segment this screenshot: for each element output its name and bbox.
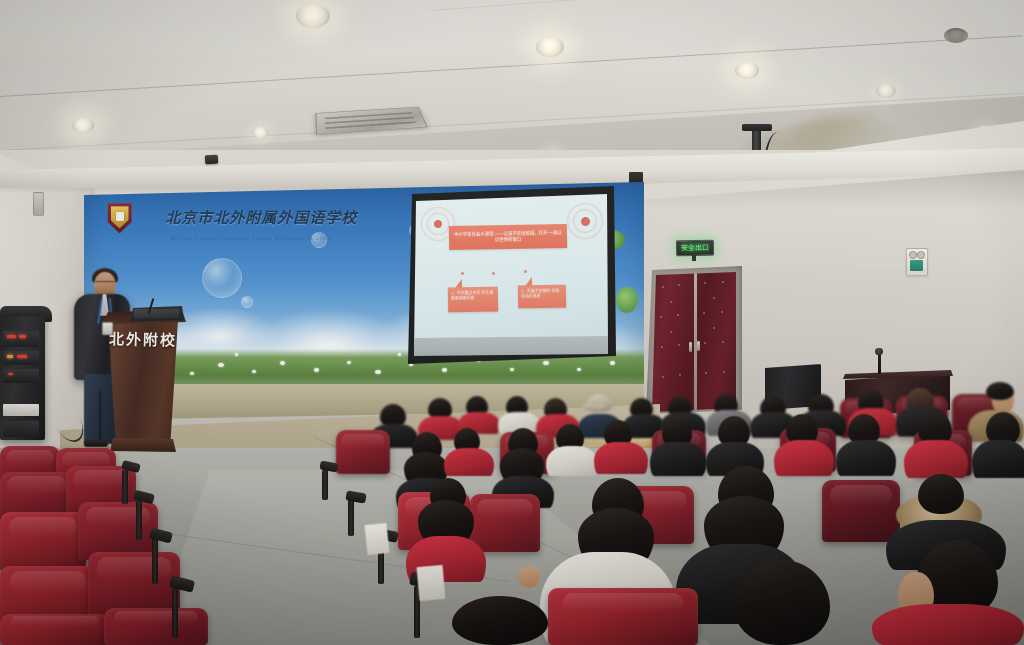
seat[interactable]: [548, 588, 698, 645]
seat-leg: [122, 470, 128, 504]
speaker-badge: [102, 322, 113, 335]
slide-callout-2: 2、开展不定期的 实践活动反馈表: [518, 285, 566, 309]
ceiling-downlight: [876, 84, 896, 98]
seat-empty[interactable]: [0, 614, 110, 645]
projector-ceiling-plate: [742, 124, 772, 131]
handout-paper[interactable]: [364, 523, 389, 555]
wall-camera-icon: [205, 155, 218, 165]
audience-shoulders: [904, 440, 968, 478]
ceiling-downlight: [296, 4, 330, 28]
slide-callout-1: 1、中学重点中学 学生满意度调查问卷: [448, 287, 498, 313]
audience-head: [986, 382, 1014, 400]
speaker-shoe: [84, 440, 108, 447]
globe-graphic: [616, 287, 638, 313]
microphone-stand: [878, 352, 881, 374]
seat-leg: [348, 500, 354, 536]
microphone-icon: [875, 348, 883, 355]
seat[interactable]: [470, 494, 540, 552]
audio-rack[interactable]: [0, 316, 45, 440]
ceiling-downlight: [536, 37, 564, 57]
slide-callout-1-text: 1、中学重点中学 学生满意度调查问卷: [451, 290, 495, 302]
ceiling-downlight: [735, 62, 759, 79]
auditorium-photo: 北京市北外附属外国语学校 Beijing Foreign Language Sc…: [0, 0, 1024, 645]
podium-base: [110, 438, 176, 452]
slide-ornament-left-core: [434, 220, 442, 228]
glasses-icon: [95, 281, 115, 287]
wall-plate: [33, 192, 44, 216]
speaker-legs: [84, 374, 116, 444]
slide-node-dot: [492, 272, 495, 275]
bubble-graphic: [202, 258, 242, 298]
bubble-graphic: [241, 296, 253, 308]
seat-leg: [152, 538, 158, 584]
projection-screen[interactable]: 中小学生社会大课堂 ——让孩子走出校园，打开 一扇认识世界的窗口 1、中学重点中…: [414, 194, 608, 350]
seat-leg: [136, 500, 142, 540]
ceiling-downlight-off: [944, 28, 968, 43]
ceiling-downlight: [72, 118, 94, 133]
padded-double-door[interactable]: [652, 272, 736, 412]
exit-sign-stem: [692, 254, 696, 261]
slide-node-dot: [524, 270, 527, 273]
podium-name-text: 北外附校: [109, 333, 177, 349]
audience-shoulders: [546, 446, 598, 476]
seat[interactable]: [336, 430, 390, 474]
school-name-en: Beijing Foreign Language School Affiliat…: [171, 237, 333, 242]
audience-head: [734, 560, 830, 645]
seat-empty[interactable]: [104, 608, 208, 645]
seat-leg: [322, 470, 328, 500]
handout-paper[interactable]: [417, 565, 446, 601]
seat[interactable]: [822, 480, 900, 542]
audience-shoulders: [594, 442, 648, 474]
wall-safety-device: [906, 248, 928, 276]
slide-ornament-right-core: [581, 217, 590, 226]
ceiling-downlight: [252, 127, 269, 139]
slide-title-text: 中小学生社会大课堂 ——让孩子走出校园，打开 一扇认识世界的窗口: [452, 230, 564, 244]
school-crest-icon: [108, 203, 132, 233]
seat-empty[interactable]: [0, 512, 86, 572]
projection-screen-bottom-bar: [414, 336, 608, 356]
audience-hand: [518, 566, 540, 588]
audience-shoulders: [650, 442, 706, 476]
exit-sign-text: 安全出口: [681, 244, 709, 251]
slide-title-band: 中小学生社会大课堂 ——让孩子走出校园，打开 一扇认识世界的窗口: [449, 224, 567, 250]
audience-head: [918, 474, 964, 514]
audience-shoulders: [836, 440, 896, 476]
audience-shoulders: [872, 604, 1024, 645]
audience-shoulders: [972, 440, 1024, 478]
audience-shoulders: [444, 448, 494, 476]
seat-leg: [172, 588, 178, 638]
audience-head: [452, 596, 548, 645]
school-name-zh: 北京市北外附属外国语学校: [165, 207, 357, 228]
audience-shoulders: [774, 440, 834, 476]
laptop[interactable]: [130, 306, 184, 322]
podium-name-plate: 北外附校: [106, 329, 180, 353]
slide-node-dot: [461, 272, 464, 275]
slide-callout-2-text: 2、开展不定期的 实践活动反馈表: [521, 288, 563, 300]
